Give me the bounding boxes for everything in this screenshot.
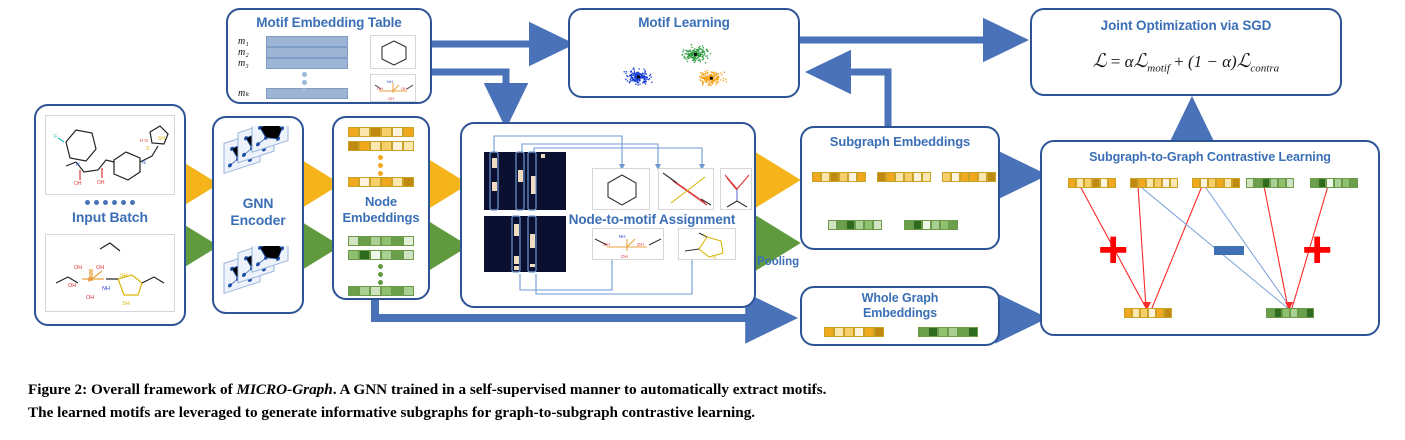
svg-text:OH: OH — [401, 86, 407, 91]
embedding-cell — [812, 172, 821, 182]
formula-alpha: α — [1125, 52, 1134, 71]
caption-emphasis: MICRO-Graph — [237, 381, 333, 398]
embedding-cell — [381, 127, 392, 137]
embedding-cell — [1326, 178, 1334, 188]
svg-text:S: S — [713, 255, 716, 260]
svg-text:SH: SH — [122, 301, 130, 307]
gnn-encoder-title-line1: GNN — [214, 196, 302, 212]
embedding-cell — [844, 327, 854, 337]
formula-equals: = — [1111, 52, 1121, 71]
subgraph-embedding-vector — [877, 172, 931, 182]
contrastive-subgraph-vector — [1068, 178, 1116, 188]
positive-pair-symbol-right: + — [1302, 224, 1332, 276]
motif-row-bar-2 — [266, 47, 348, 58]
embedding-cell — [837, 220, 846, 230]
embedding-cell — [1208, 178, 1216, 188]
embedding-cell — [834, 327, 844, 337]
assignment-title: Node-to-motif Assignment — [552, 212, 752, 227]
embedding-cell — [938, 327, 948, 337]
embedding-cell — [403, 236, 414, 246]
input-molecule-thumbnail-2: OH OH OH OH P NH SH SH — [45, 234, 175, 312]
embedding-cell — [951, 172, 960, 182]
embedding-cell — [1318, 178, 1326, 188]
svg-text:NH: NH — [102, 286, 110, 292]
gnn-layer-stack-top — [222, 126, 300, 187]
positive-pair-symbol-left: + — [1098, 224, 1128, 276]
embedding-cell — [359, 141, 370, 151]
embedding-cell — [942, 172, 951, 182]
embedding-cell — [370, 236, 381, 246]
embedding-cell — [1068, 178, 1076, 188]
embedding-cell — [370, 177, 381, 187]
caption-prefix: Figure 2: Overall framework of — [28, 381, 237, 398]
embedding-cell — [922, 220, 931, 230]
negative-pair-symbol — [1214, 246, 1244, 255]
embedding-cell — [348, 286, 359, 296]
motif-cluster-scatter — [570, 32, 798, 98]
embedding-cell — [392, 127, 403, 137]
embedding-cell — [370, 286, 381, 296]
embedding-cell — [392, 250, 403, 260]
embedding-cell — [359, 236, 370, 246]
embedding-cell — [1282, 308, 1290, 318]
svg-text:P: P — [88, 278, 92, 284]
embedding-cell — [1138, 178, 1146, 188]
node-embeddings-ellipsis-orange — [378, 155, 383, 176]
svg-text:SH: SH — [158, 136, 165, 142]
embedding-cell — [1342, 178, 1350, 188]
node-embeddings-ellipsis-green — [378, 264, 383, 285]
embedding-cell — [873, 220, 882, 230]
embedding-cell — [381, 250, 392, 260]
motif-thumbnail-phosphate: NH OH OH OH — [370, 74, 416, 102]
motif-row-bar-1 — [266, 36, 348, 47]
embedding-cell — [1270, 178, 1278, 188]
embedding-cell — [1310, 178, 1318, 188]
embedding-cell — [392, 177, 403, 187]
motif-row-bar-k — [266, 88, 348, 99]
embedding-cell — [864, 220, 873, 230]
embedding-cell — [918, 327, 928, 337]
embedding-cell — [392, 236, 403, 246]
embedding-cell — [403, 127, 414, 137]
caption-line-2: The learned motifs are leveraged to gene… — [28, 401, 1384, 424]
embedding-cell — [1164, 308, 1172, 318]
embedding-cell — [392, 141, 403, 151]
svg-text:N: N — [142, 160, 146, 166]
svg-text:OH: OH — [74, 265, 82, 271]
embedding-cell — [381, 286, 392, 296]
whole-graph-title-line2: Embeddings — [802, 306, 998, 320]
embedding-cell — [359, 250, 370, 260]
node-embedding-vector — [348, 250, 414, 260]
motif-embedding-table-block[interactable]: Motif Embedding Table m₁ m₂ m₃ mₖ NH OH … — [226, 8, 432, 104]
embedding-cell — [940, 220, 949, 230]
svg-text:OH: OH — [388, 96, 394, 101]
caption-line-1: Figure 2: Overall framework of MICRO-Gra… — [28, 378, 1384, 401]
contrastive-subgraph-vector — [1246, 178, 1294, 188]
embedding-cell — [846, 220, 855, 230]
embedding-cell — [392, 286, 403, 296]
embedding-cell — [1108, 178, 1116, 188]
embedding-cell — [381, 141, 392, 151]
whole-graph-embedding-vector — [918, 327, 978, 337]
subgraph-embedding-vector — [904, 220, 958, 230]
embedding-cell — [1100, 178, 1108, 188]
embedding-cell — [1334, 178, 1342, 188]
subgraph-embeddings-block[interactable]: Subgraph Embeddings — [800, 126, 1000, 250]
svg-text:OH: OH — [74, 181, 82, 187]
embedding-cell — [913, 220, 922, 230]
input-batch-ellipsis — [36, 200, 184, 205]
input-molecule-thumbnail-1: F OH OH N N SH S H O — [45, 115, 175, 195]
embedding-cell — [1290, 308, 1298, 318]
whole-graph-embeddings-block[interactable]: Whole Graph Embeddings — [800, 286, 1000, 346]
formula-sub-contra: contra — [1250, 62, 1279, 74]
embedding-cell — [824, 327, 834, 337]
input-batch-title: Input Batch — [36, 210, 184, 226]
embedding-cell — [1146, 178, 1154, 188]
motif-learning-title: Motif Learning — [570, 15, 798, 30]
motif-row-label-3: m₃ — [238, 58, 249, 69]
embedding-cell — [1148, 308, 1156, 318]
embedding-cell — [359, 177, 370, 187]
embedding-cell — [848, 172, 857, 182]
whole-graph-title-line1: Whole Graph — [802, 291, 998, 305]
contrastive-subgraph-vector — [1310, 178, 1358, 188]
formula-plus: + — [1174, 52, 1184, 71]
svg-text:OH: OH — [603, 242, 610, 247]
embedding-cell — [1076, 178, 1084, 188]
pooling-label: Pooling — [757, 256, 799, 268]
node-embeddings-title-line2: Embeddings — [334, 211, 428, 226]
embedding-cell — [828, 220, 837, 230]
whole-graph-embedding-vector — [824, 327, 884, 337]
contrastive-top-orange-vectors — [1068, 178, 1240, 188]
motif-table-ellipsis — [302, 72, 307, 93]
contrastive-graph-vector — [1124, 308, 1172, 318]
embedding-cell — [381, 236, 392, 246]
figure-canvas: F OH OH N N SH S H O Input Batch — [0, 0, 1405, 440]
node-embedding-vector — [348, 286, 414, 296]
motif-thumbnail-hexagon — [370, 35, 416, 69]
embedding-cell — [1092, 178, 1100, 188]
embedding-cell — [877, 172, 886, 182]
embedding-cell — [348, 250, 359, 260]
embedding-cell — [931, 220, 940, 230]
embedding-cell — [1262, 178, 1270, 188]
embedding-cell — [987, 172, 996, 182]
embedding-cell — [968, 327, 978, 337]
embedding-cell — [370, 141, 381, 151]
embedding-cell — [1306, 308, 1314, 318]
input-batch-block[interactable]: F OH OH N N SH S H O Input Batch — [34, 104, 186, 326]
embedding-cell — [1192, 178, 1200, 188]
svg-text:OH: OH — [377, 86, 383, 91]
subgraph-green-vectors — [828, 220, 958, 230]
embedding-cell — [1162, 178, 1170, 188]
embedding-cell — [1132, 308, 1140, 318]
embedding-cell — [830, 172, 839, 182]
embedding-cell — [1140, 308, 1148, 318]
node-embedding-vector — [348, 236, 414, 246]
assignment-motif-thumb-hexagon — [592, 168, 650, 210]
subgraph-embedding-vector — [812, 172, 866, 182]
embedding-cell — [904, 172, 913, 182]
embedding-cell — [1154, 178, 1162, 188]
node-embedding-vector — [348, 141, 414, 151]
subgraph-embeddings-title: Subgraph Embeddings — [802, 135, 998, 150]
embedding-cell — [381, 177, 392, 187]
embedding-cell — [1224, 178, 1232, 188]
svg-text:OH: OH — [96, 265, 104, 271]
embedding-cell — [1246, 178, 1254, 188]
embedding-cell — [348, 127, 359, 137]
embedding-cell — [857, 172, 866, 182]
assignment-heatmap-top-highlights — [480, 148, 570, 214]
embedding-cell — [913, 172, 922, 182]
embedding-cell — [1156, 308, 1164, 318]
contrastive-bottom-green-vector — [1266, 308, 1314, 318]
node-embedding-vector — [348, 127, 414, 137]
svg-text:NH: NH — [619, 234, 626, 239]
contrastive-top-green-vectors — [1246, 178, 1358, 188]
embedding-cell — [969, 172, 978, 182]
contrastive-subgraph-vector — [1192, 178, 1240, 188]
motif-row-label-k: mₖ — [238, 88, 249, 99]
embedding-cell — [359, 286, 370, 296]
whole-graph-vectors — [824, 327, 978, 337]
embedding-cell — [1084, 178, 1092, 188]
joint-optimization-block[interactable]: Joint Optimization via SGD ℒ = αℒmotif +… — [1030, 8, 1342, 96]
formula-sub-motif: motif — [1147, 62, 1170, 74]
contrastive-learning-block[interactable]: Subgraph-to-Graph Contrastive Learning +… — [1040, 140, 1380, 336]
embedding-cell — [1274, 308, 1282, 318]
subgraph-embedding-vector — [828, 220, 882, 230]
formula-l-motif: ℒ — [1134, 51, 1148, 72]
embedding-cell — [1170, 178, 1178, 188]
node-embeddings-block[interactable]: Node Embeddings — [332, 116, 430, 300]
embedding-cell — [1200, 178, 1208, 188]
node-embedding-vector — [348, 177, 414, 187]
embedding-cell — [821, 172, 830, 182]
motif-row-bar-3 — [266, 58, 348, 69]
svg-text:N: N — [76, 162, 80, 168]
svg-text:S: S — [146, 146, 150, 152]
embedding-cell — [960, 172, 969, 182]
embedding-cell — [874, 327, 884, 337]
embedding-cell — [1278, 178, 1286, 188]
embedding-cell — [864, 327, 874, 337]
gnn-layer-stack-bottom — [222, 246, 300, 307]
joint-optimization-title: Joint Optimization via SGD — [1032, 18, 1340, 33]
assignment-motif-thumb-branch — [720, 168, 752, 210]
embedding-cell — [1266, 308, 1274, 318]
assignment-motif-thumb-thiolane: S S — [678, 228, 736, 260]
gnn-encoder-block[interactable]: GNN Encoder — [212, 116, 304, 314]
embedding-cell — [403, 250, 414, 260]
embedding-cell — [370, 127, 381, 137]
svg-text:SH: SH — [120, 273, 128, 279]
embedding-cell — [403, 141, 414, 151]
embedding-cell — [348, 236, 359, 246]
svg-text:OH: OH — [637, 242, 644, 247]
node-embeddings-title-line1: Node — [334, 195, 428, 210]
embedding-cell — [895, 172, 904, 182]
embedding-cell — [958, 327, 968, 337]
formula-l-contra: ℒ — [1237, 51, 1251, 72]
svg-text:H O: H O — [140, 138, 149, 143]
caption-suffix: . A GNN trained in a self-supervised man… — [333, 381, 827, 398]
embedding-cell — [928, 327, 938, 337]
embedding-cell — [403, 177, 414, 187]
embedding-cell — [370, 250, 381, 260]
svg-text:OH: OH — [68, 283, 76, 289]
gnn-encoder-title-line2: Encoder — [214, 213, 302, 229]
node-to-motif-assignment-block[interactable]: NH OH OH OH S S Node-to-motif Assignment — [460, 122, 756, 308]
embedding-cell — [1216, 178, 1224, 188]
motif-learning-block[interactable]: Motif Learning — [568, 8, 800, 98]
embedding-cell — [978, 172, 987, 182]
formula-one-minus-alpha: (1 − α) — [1188, 52, 1237, 71]
subgraph-orange-vectors — [812, 172, 996, 182]
embedding-cell — [855, 220, 864, 230]
embedding-cell — [1232, 178, 1240, 188]
embedding-cell — [348, 141, 359, 151]
formula-lhs: ℒ — [1093, 51, 1107, 72]
svg-text:OH: OH — [97, 180, 105, 186]
embedding-cell — [403, 286, 414, 296]
embedding-cell — [1130, 178, 1138, 188]
embedding-cell — [348, 177, 359, 187]
embedding-cell — [1350, 178, 1358, 188]
svg-text:F: F — [54, 134, 58, 140]
assignment-motif-thumb-phosphate: NH OH OH OH — [592, 228, 664, 260]
embedding-cell — [1298, 308, 1306, 318]
embedding-cell — [904, 220, 913, 230]
motif-row-label-2: m₂ — [238, 47, 249, 58]
embedding-cell — [886, 172, 895, 182]
embedding-cell — [854, 327, 864, 337]
embedding-cell — [922, 172, 931, 182]
motif-table-title: Motif Embedding Table — [228, 15, 430, 30]
svg-text:OH: OH — [86, 295, 94, 301]
embedding-cell — [839, 172, 848, 182]
contrastive-bottom-orange-vector — [1124, 308, 1172, 318]
svg-text:NH: NH — [387, 79, 393, 84]
joint-optimization-formula: ℒ = αℒmotif + (1 − α)ℒcontra — [1032, 50, 1340, 74]
contrastive-subgraph-vector — [1130, 178, 1178, 188]
embedding-cell — [949, 220, 958, 230]
svg-text:S: S — [703, 233, 706, 238]
assignment-motif-thumb-cross — [658, 168, 714, 210]
embedding-cell — [1286, 178, 1294, 188]
embedding-cell — [1254, 178, 1262, 188]
motif-row-label-1: m₁ — [238, 36, 249, 47]
embedding-cell — [359, 127, 370, 137]
embedding-cell — [948, 327, 958, 337]
svg-text:OH: OH — [621, 254, 628, 259]
subgraph-embedding-vector — [942, 172, 996, 182]
figure-caption: Figure 2: Overall framework of MICRO-Gra… — [28, 378, 1384, 424]
embedding-cell — [1124, 308, 1132, 318]
contrastive-graph-vector — [1266, 308, 1314, 318]
